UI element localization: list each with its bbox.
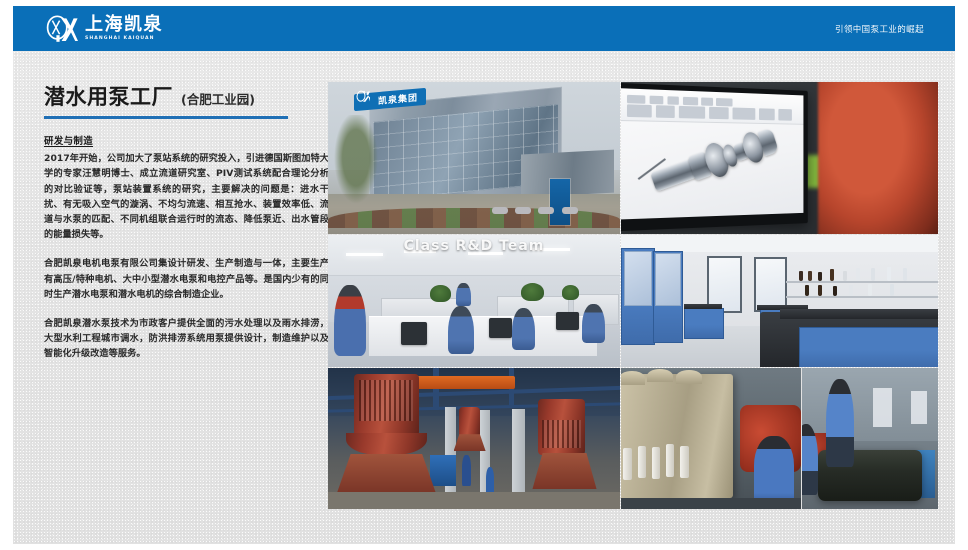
building-logo-icon bbox=[356, 90, 370, 104]
diesel-engine-assembly-photo bbox=[621, 368, 801, 509]
office-overlay-caption: Class R&D Team bbox=[328, 238, 620, 254]
body-paragraph-3: 合肥凯泉潜水泵技术为市政客户提供全面的污水处理以及雨水排涝，大型水利工程城市调水… bbox=[44, 316, 329, 362]
header-tagline: 引领中国泵工业的崛起 bbox=[835, 6, 924, 51]
submersible-pump-assembly-photo bbox=[328, 368, 620, 509]
factory-building-photo: 凯泉集团 bbox=[328, 82, 620, 234]
brand-name-cn: 上海凯泉 bbox=[85, 16, 163, 34]
collage-bottom-row bbox=[328, 368, 938, 509]
section-heading: 研发与制造 bbox=[44, 133, 329, 147]
slide-canvas: 上海凯泉 SHANGHAI KAIQUAN 引领中国泵工业的崛起 潜水用泵工厂 … bbox=[13, 6, 955, 544]
text-column: 潜水用泵工厂 (合肥工业园) 研发与制造 2017年开始，公司加大了泵站系统的研… bbox=[44, 86, 329, 371]
rd-office-photo: Class R&D Team bbox=[328, 235, 620, 367]
body-paragraph-2: 合肥凯泉电机电泵有限公司集设计研发、生产制造与一体，主要生产有高压/特种电机、大… bbox=[44, 256, 329, 302]
kaiquan-x-logo-icon bbox=[44, 14, 78, 45]
materials-laboratory-photo bbox=[621, 235, 938, 367]
header-bar: 上海凯泉 SHANGHAI KAIQUAN 引领中国泵工业的崛起 bbox=[13, 6, 955, 51]
pump-maintenance-workers-photo bbox=[802, 368, 938, 509]
body-paragraph-1: 2017年开始，公司加大了泵站系统的研究投入，引进德国斯图加特大学的专家汪慧明博… bbox=[44, 151, 329, 242]
page-title-main: 潜水用泵工厂 bbox=[44, 86, 173, 109]
page-title: 潜水用泵工厂 (合肥工业园) bbox=[44, 86, 329, 109]
brand-name-en: SHANGHAI KAIQUAN bbox=[85, 37, 163, 42]
cad-design-workstation-photo bbox=[621, 82, 938, 234]
title-underline-rule bbox=[44, 116, 288, 119]
page-title-sub: (合肥工业园) bbox=[181, 89, 255, 108]
brand-logo[interactable]: 上海凯泉 SHANGHAI KAIQUAN bbox=[44, 13, 163, 45]
photo-collage: 凯泉集团 bbox=[328, 82, 938, 509]
